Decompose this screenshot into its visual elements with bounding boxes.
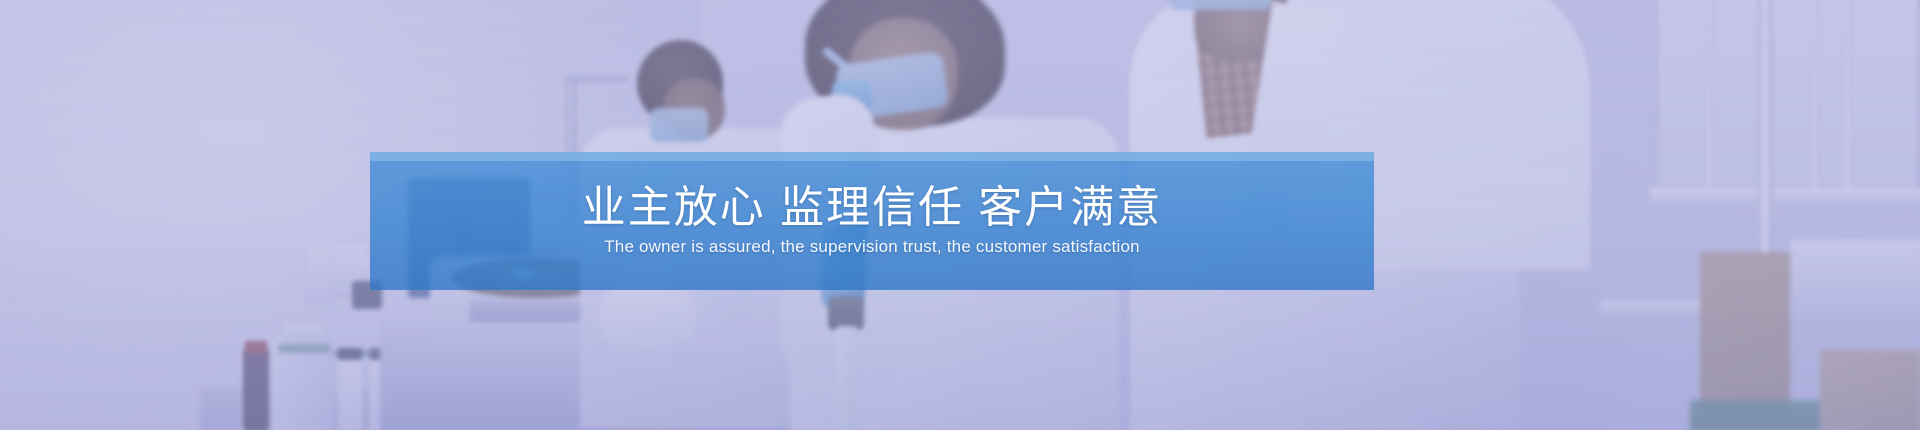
banner-headline: 业主放心 监理信任 客户满意 [582, 184, 1162, 232]
banner-text-block: 业主放心 监理信任 客户满意 The owner is assured, the… [370, 152, 1374, 290]
banner-subtitle: The owner is assured, the supervision tr… [604, 236, 1140, 258]
hero-banner: 业主放心 监理信任 客户满意 The owner is assured, the… [0, 0, 1920, 430]
